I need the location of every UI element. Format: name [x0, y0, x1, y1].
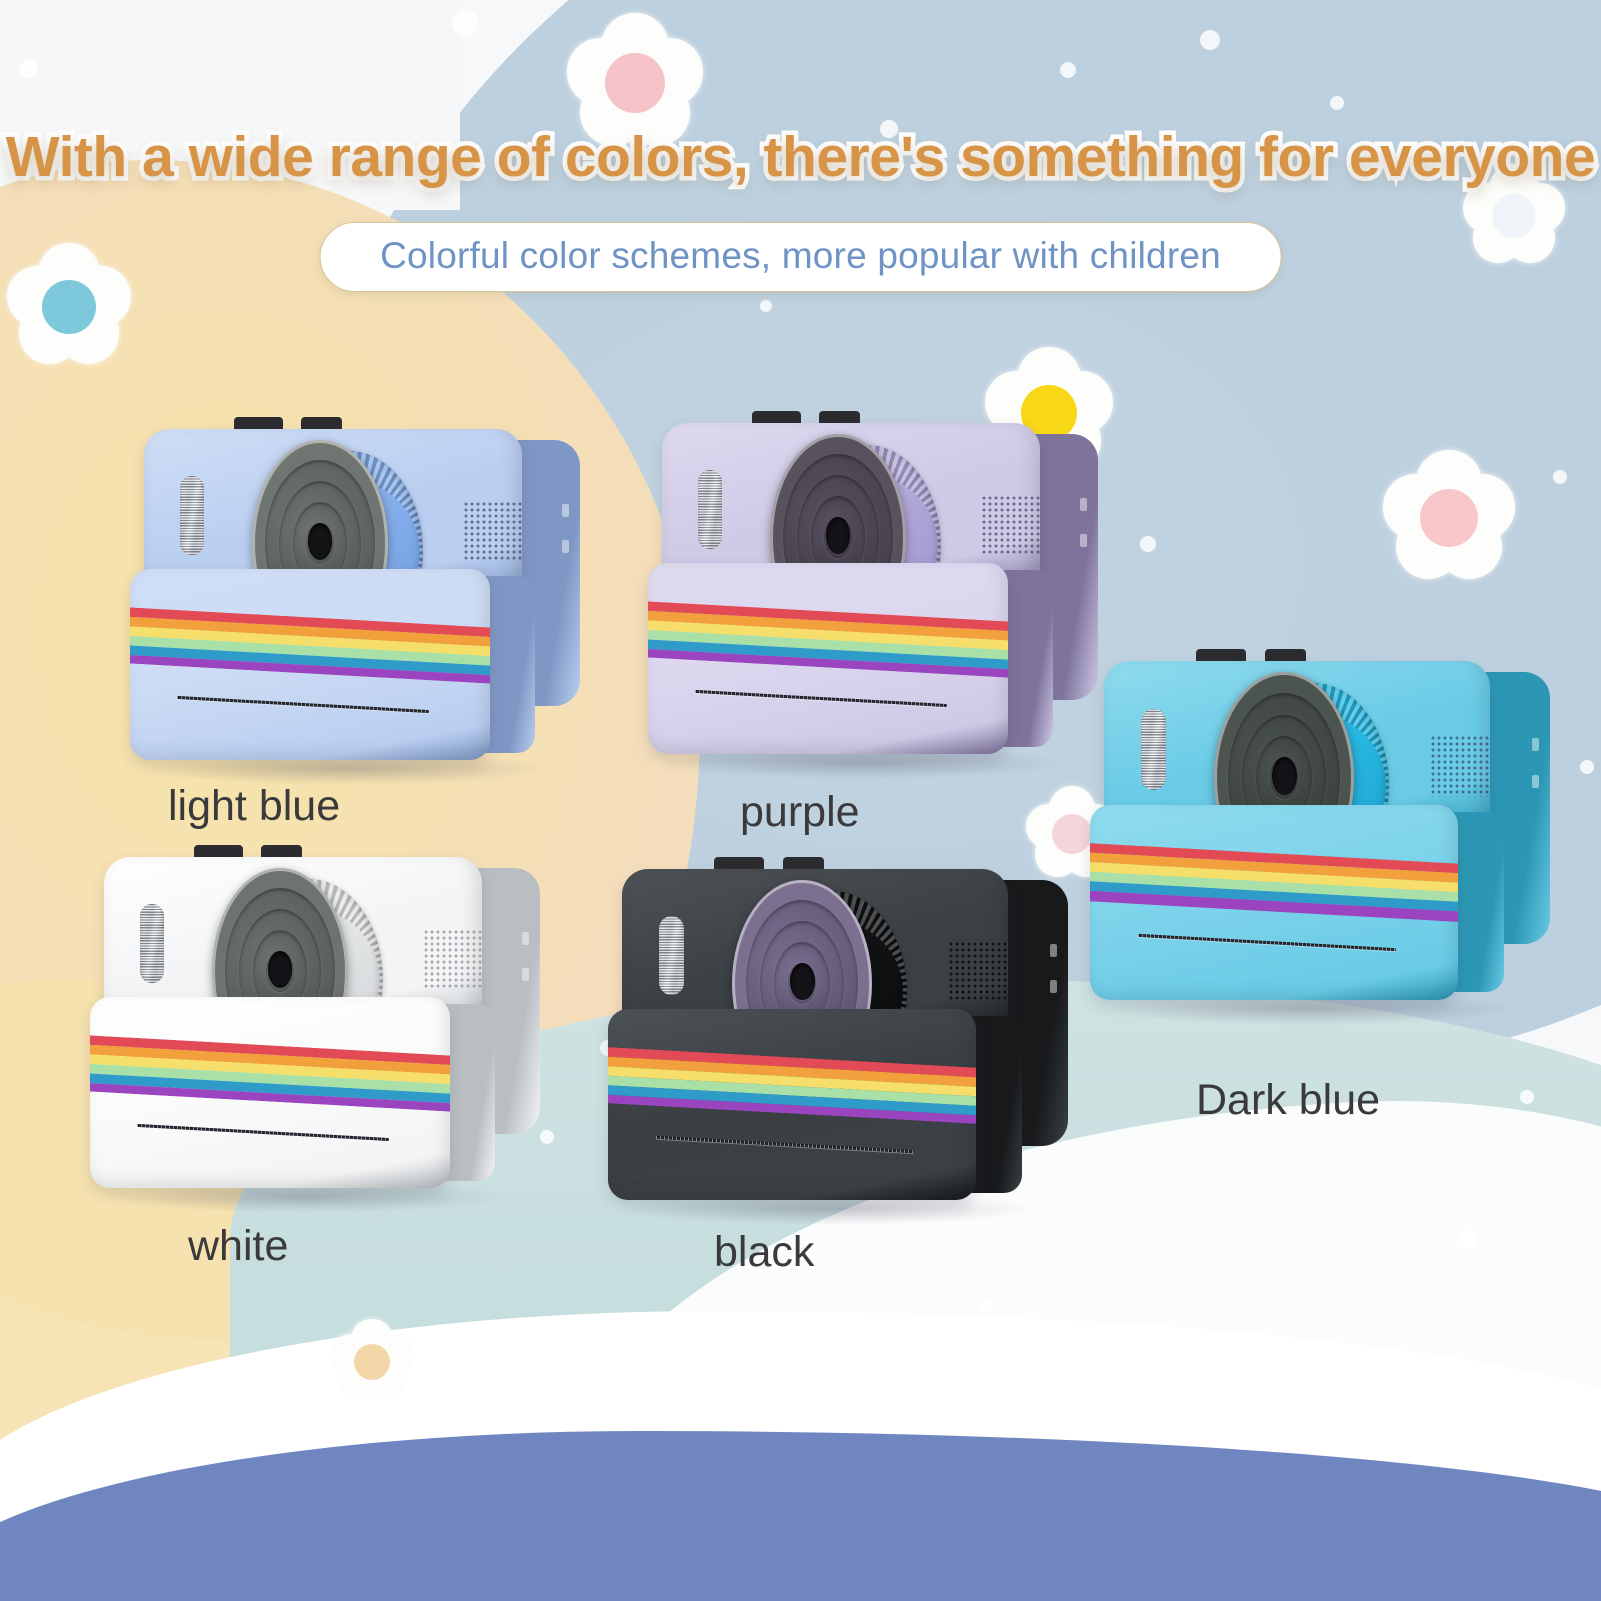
bokeh-dot [760, 300, 772, 312]
bokeh-dot [250, 1390, 266, 1406]
side-port-upper [1050, 944, 1056, 956]
camera-label-purple: purple [740, 788, 860, 837]
camera-front-panel [1090, 805, 1458, 1000]
page-title: With a wide range of colors, there's som… [0, 124, 1601, 190]
bokeh-dot [452, 10, 478, 36]
photo-print-slot [656, 1136, 914, 1153]
lens-aperture [268, 951, 293, 988]
camera-front-panel [130, 569, 490, 760]
rainbow-stripe-band [648, 601, 1008, 678]
camera-label-light-blue: light blue [168, 782, 340, 831]
side-port-lower [1050, 980, 1056, 992]
speaker-grille-icon [463, 501, 522, 562]
lens-aperture [826, 517, 851, 554]
speaker-grille-icon [981, 495, 1040, 556]
bokeh-dot [540, 1130, 554, 1144]
lens-aperture [308, 523, 333, 560]
subtitle-badge: Colorful color schemes, more popular wit… [319, 222, 1282, 292]
side-port-lower [1532, 775, 1538, 788]
flower-center [605, 53, 665, 113]
photo-print-slot [137, 1124, 389, 1141]
bokeh-dot [1200, 30, 1220, 50]
flower-icon [332, 1322, 412, 1402]
flash-icon [659, 916, 684, 995]
bokeh-dot [1330, 96, 1344, 110]
bokeh-dot [20, 60, 38, 78]
camera-label-dark-blue: Dark blue [1196, 1076, 1380, 1125]
bokeh-dot [86, 1442, 106, 1462]
rainbow-stripe-band [90, 1035, 450, 1112]
side-port-upper [1080, 498, 1086, 510]
photo-print-slot [1138, 934, 1396, 952]
camera-front-panel [90, 997, 450, 1188]
photo-print-slot [177, 696, 429, 713]
speaker-grille-icon [948, 941, 1008, 1002]
flash-icon [698, 470, 723, 549]
bokeh-dot [980, 1300, 992, 1312]
bokeh-dot [1460, 1230, 1478, 1248]
speaker-grille-icon [423, 929, 482, 990]
camera-purple[interactable] [648, 412, 1098, 772]
bokeh-dot [1520, 1090, 1534, 1104]
side-port-upper [522, 932, 528, 944]
side-port-upper [562, 504, 568, 516]
photo-print-slot [695, 690, 947, 707]
flash-icon [1141, 709, 1166, 790]
bokeh-dot [1553, 470, 1567, 484]
camera-label-white: white [188, 1222, 288, 1271]
subtitle-text: Colorful color schemes, more popular wit… [380, 235, 1221, 276]
flower-center [42, 280, 96, 334]
flash-icon [180, 476, 205, 555]
rainbow-stripe-band [608, 1047, 976, 1124]
camera-black[interactable] [608, 858, 1068, 1218]
speaker-grille-icon [1430, 735, 1490, 798]
infographic-canvas: With a wide range of colors, there's som… [0, 0, 1601, 1601]
camera-white[interactable] [90, 846, 540, 1206]
camera-light-blue[interactable] [130, 418, 580, 778]
side-port-lower [522, 968, 528, 980]
flash-icon [140, 904, 165, 983]
camera-dark-blue[interactable] [1090, 650, 1550, 1018]
flower-icon [10, 248, 128, 366]
bokeh-dot [690, 1340, 704, 1354]
camera-front-panel [648, 563, 1008, 754]
flower-center [1420, 489, 1478, 547]
rainbow-stripe-band [130, 607, 490, 684]
lens-aperture [1272, 757, 1297, 795]
flower-center [1492, 194, 1536, 238]
flower-icon [1386, 455, 1512, 581]
lens-aperture [790, 963, 815, 1000]
camera-front-panel [608, 1009, 976, 1200]
flower-center [1052, 814, 1092, 854]
side-port-upper [1532, 738, 1538, 751]
camera-label-black: black [714, 1228, 814, 1277]
side-port-lower [562, 540, 568, 552]
side-port-lower [1080, 534, 1086, 546]
bokeh-dot [1140, 536, 1156, 552]
bokeh-dot [1060, 62, 1076, 78]
rainbow-stripe-band [1090, 843, 1458, 921]
bokeh-dot [1580, 760, 1594, 774]
